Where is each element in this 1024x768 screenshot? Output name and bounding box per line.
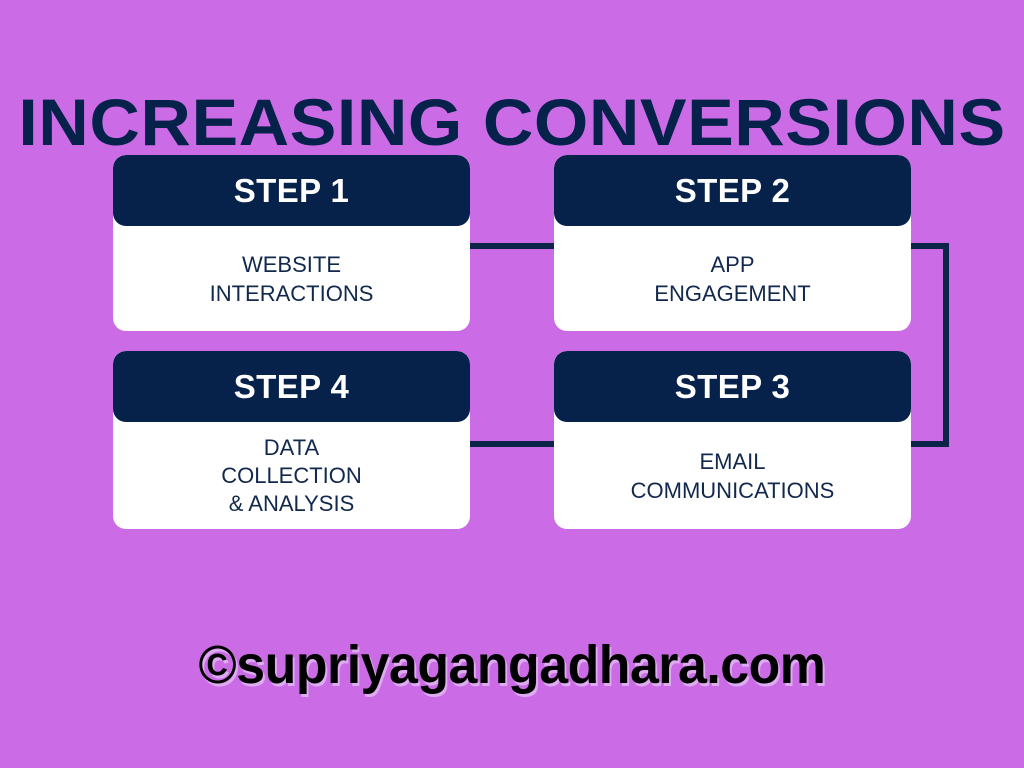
step-card-1-body: WEBSITE INTERACTIONS xyxy=(113,226,470,331)
connector-step3-right-elbow-bottom xyxy=(905,441,949,447)
step-card-2-header: STEP 2 xyxy=(554,155,911,226)
step-card-3-header: STEP 3 xyxy=(554,351,911,422)
step-card-2-body: APP ENGAGEMENT xyxy=(554,226,911,331)
step-card-2[interactable]: STEP 2 APP ENGAGEMENT xyxy=(554,155,911,331)
step-card-4[interactable]: STEP 4 DATA COLLECTION & ANALYSIS xyxy=(113,351,470,529)
step-card-3-body: EMAIL COMMUNICATIONS xyxy=(554,422,911,529)
infographic-canvas: INCREASING CONVERSIONS STEP 1 WEBSITE IN… xyxy=(0,0,1024,768)
step-card-1-header: STEP 1 xyxy=(113,155,470,226)
step-card-4-header: STEP 4 xyxy=(113,351,470,422)
connector-step1-step2 xyxy=(468,243,560,249)
copyright-watermark: ©supriyagangadhara.com xyxy=(20,633,1003,697)
step-card-4-body: DATA COLLECTION & ANALYSIS xyxy=(113,422,470,529)
connector-step2-step3-vertical xyxy=(943,243,949,447)
step-card-1[interactable]: STEP 1 WEBSITE INTERACTIONS xyxy=(113,155,470,331)
page-title: INCREASING CONVERSIONS xyxy=(0,86,1024,158)
step-card-3[interactable]: STEP 3 EMAIL COMMUNICATIONS xyxy=(554,351,911,529)
connector-step3-step4 xyxy=(468,441,560,447)
